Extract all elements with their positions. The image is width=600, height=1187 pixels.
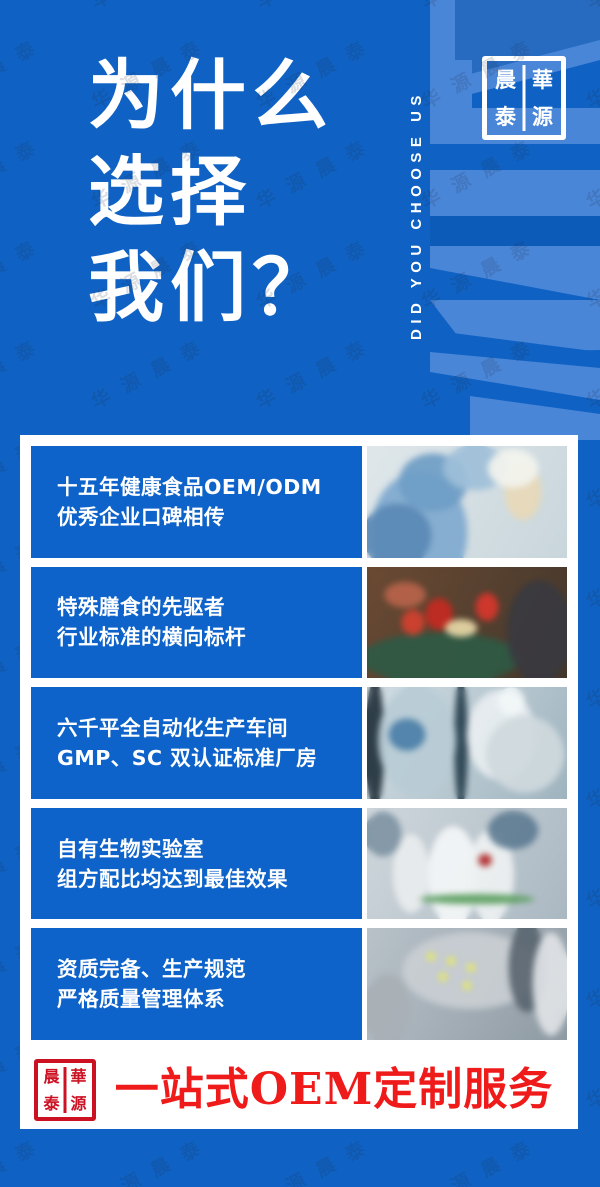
feature-card-image	[367, 808, 567, 920]
feature-line: 十五年健康食品OEM/ODM	[57, 472, 362, 502]
feature-card-text: 十五年健康食品OEM/ODM 优秀企业口碑相传	[31, 446, 362, 558]
vertical-english-tagline: DID YOU CHOOSE US	[408, 20, 434, 410]
feature-card-image	[367, 928, 567, 1040]
feature-card-image	[367, 687, 567, 799]
feature-line: 六千平全自动化生产车间	[57, 713, 362, 743]
brand-seal-banner: 晨 華 泰 源	[34, 1059, 96, 1121]
feature-line: 组方配比均达到最佳效果	[57, 864, 362, 894]
seal-char-2: 華	[524, 61, 561, 98]
feature-line: 特殊膳食的先驱者	[57, 592, 362, 622]
feature-card-text: 特殊膳食的先驱者 行业标准的横向标杆	[31, 567, 362, 679]
feature-card: 十五年健康食品OEM/ODM 优秀企业口碑相传	[31, 446, 567, 558]
title-line-2: 选择	[88, 144, 334, 240]
feature-card-text: 资质完备、生产规范 严格质量管理体系	[31, 928, 362, 1040]
feature-card-text: 六千平全自动化生产车间 GMP、SC 双认证标准厂房	[31, 687, 362, 799]
seal-char-1: 晨	[38, 1063, 65, 1090]
feature-line: GMP、SC 双认证标准厂房	[57, 743, 362, 773]
page-title: 为什么 选择 我们？	[88, 48, 334, 336]
feature-card-list: 十五年健康食品OEM/ODM 优秀企业口碑相传 特殊膳食的先驱者 行业标准的横向…	[31, 446, 567, 1040]
feature-card-frame: 十五年健康食品OEM/ODM 优秀企业口碑相传 特殊膳食的先驱者 行业标准的横向…	[20, 435, 578, 1051]
feature-card: 自有生物实验室 组方配比均达到最佳效果	[31, 808, 567, 920]
bottom-banner: 晨 華 泰 源 一站式OEM定制服务	[20, 1051, 578, 1129]
feature-line: 自有生物实验室	[57, 834, 362, 864]
seal-char-3: 泰	[487, 98, 524, 135]
feature-line: 资质完备、生产规范	[57, 954, 362, 984]
feature-card-text: 自有生物实验室 组方配比均达到最佳效果	[31, 808, 362, 920]
title-line-1: 为什么	[88, 48, 334, 144]
feature-card: 六千平全自动化生产车间 GMP、SC 双认证标准厂房	[31, 687, 567, 799]
title-line-3: 我们？	[88, 240, 334, 336]
seal-char-3: 泰	[38, 1090, 65, 1117]
banner-slogan: 一站式OEM定制服务	[96, 1068, 578, 1112]
brand-seal-header: 晨 華 泰 源	[482, 56, 566, 140]
poster-root: 为什么 选择 我们？ DID YOU CHOOSE US 晨 華 泰 源 十五年…	[0, 0, 600, 1187]
seal-char-4: 源	[524, 98, 561, 135]
seal-char-2: 華	[65, 1063, 92, 1090]
feature-line: 行业标准的横向标杆	[57, 622, 362, 652]
poster-header: 为什么 选择 我们？ DID YOU CHOOSE US 晨 華 泰 源	[0, 0, 600, 432]
seal-border: 晨 華 泰 源	[482, 56, 566, 140]
seal-char-1: 晨	[487, 61, 524, 98]
feature-line: 严格质量管理体系	[57, 984, 362, 1014]
feature-card: 特殊膳食的先驱者 行业标准的横向标杆	[31, 567, 567, 679]
feature-card: 资质完备、生产规范 严格质量管理体系	[31, 928, 567, 1040]
seal-char-4: 源	[65, 1090, 92, 1117]
feature-card-image	[367, 567, 567, 679]
feature-line: 优秀企业口碑相传	[57, 502, 362, 532]
seal-border: 晨 華 泰 源	[34, 1059, 96, 1121]
feature-card-image	[367, 446, 567, 558]
